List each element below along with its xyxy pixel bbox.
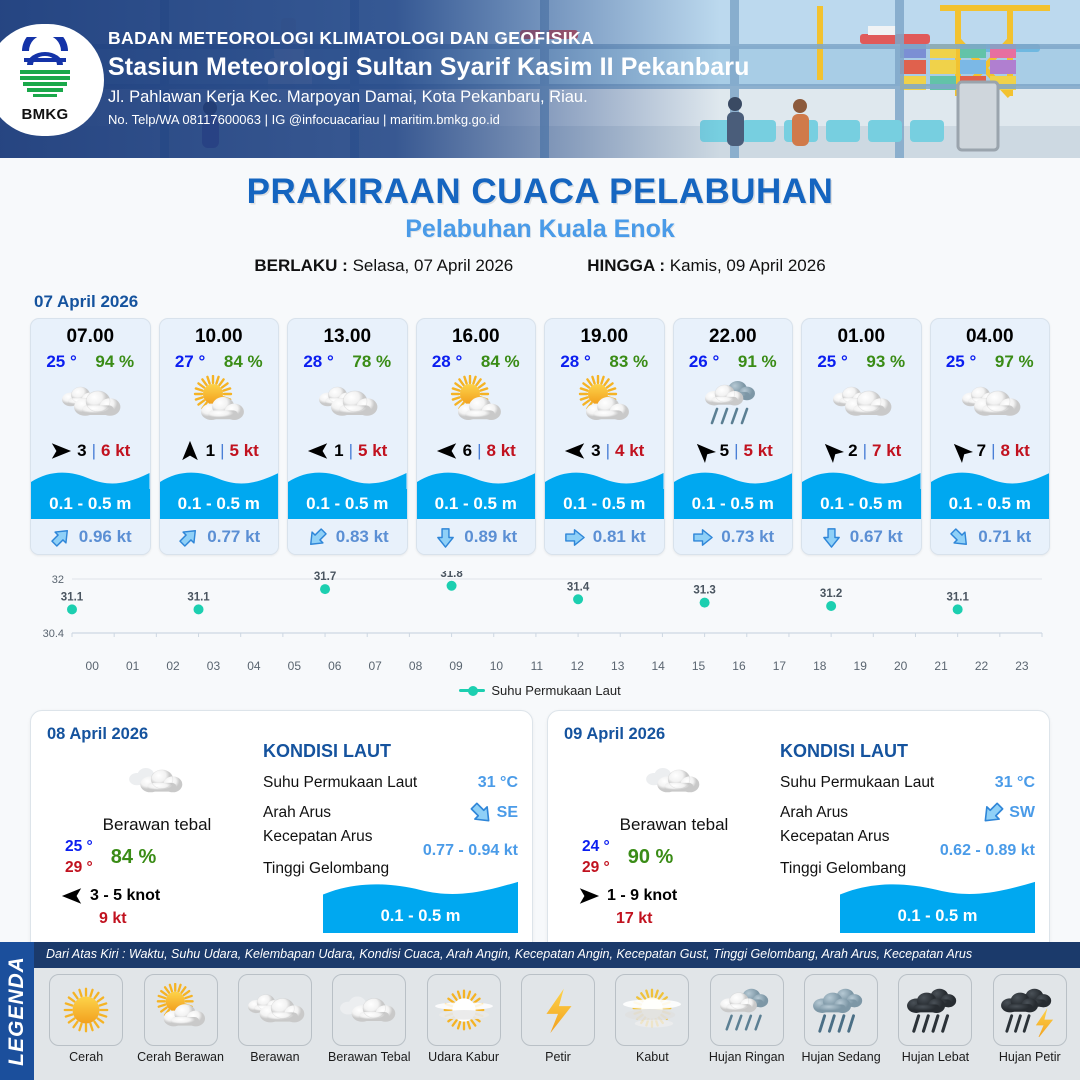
card-temp-humidity: 27 ° 84 % [160,348,279,372]
forecast-card: 04.00 25 ° 97 % 7 [930,318,1051,555]
card-humidity: 97 % [995,352,1034,372]
svg-text:31.7: 31.7 [314,571,336,583]
hingga-label: HINGGA : [587,256,665,275]
forecast-card: 01.00 25 ° 93 % 2 [801,318,922,555]
panel-current-dir-row: Arah Arus SE [263,798,518,828]
card-wave-block: 0.1 - 0.5 m [160,468,279,520]
wave-shape-icon [31,468,150,490]
card-wind-row: 3 | 4 kt [545,434,664,468]
card-temp-humidity: 28 ° 78 % [288,348,407,372]
svg-text:31.4: 31.4 [567,581,590,593]
current-direction-NE-arrow-icon [177,526,200,549]
wind-direction-NW-arrow-icon [821,440,843,462]
chart-x-tick: 06 [315,659,355,673]
card-humidity: 94 % [95,352,134,372]
chart-x-tick: 16 [719,659,759,673]
legend-item: Cerah [42,974,130,1080]
card-current-row: 0.77 kt [160,520,279,554]
panel-current-SW-arrow-icon [980,800,1006,826]
card-gust: 4 kt [615,441,644,461]
chart-x-tick: 04 [234,659,274,673]
port-name: Pelabuhan Kuala Enok [0,215,1080,244]
panel-current-dir-label: Arah Arus [263,804,331,822]
card-temperature: 25 ° [946,352,976,372]
legend-side-label: LEGENDA [0,942,34,1080]
card-humidity: 84 % [481,352,520,372]
card-wind-row: 2 | 7 kt [802,434,921,468]
card-weather-cerah-berawan-icon [160,372,279,434]
card-humidity: 91 % [738,352,777,372]
card-wind-speed: 3 [77,441,86,461]
panel-current-dir-row: Arah Arus SW [780,798,1035,828]
forecast-cards-row: 07.00 25 ° 94 % 3 [0,318,1080,555]
panel-kondisi-title: KONDISI LAUT [263,741,518,762]
card-gust: 8 kt [487,441,516,461]
legend-item: Udara Kabur [419,974,507,1080]
panel-humidity: 84 % [111,846,157,869]
panel-sst-value: 31 °C [995,774,1035,792]
card-temp-humidity: 25 ° 97 % [931,348,1050,372]
legend-item: Berawan Tebal [325,974,413,1080]
card-wave-block: 0.1 - 0.5 m [802,468,921,520]
chart-x-tick: 09 [436,659,476,673]
current-direction-SE-arrow-icon [948,526,971,549]
card-gust: 5 kt [358,441,387,461]
chart-x-tick: 15 [678,659,718,673]
card-humidity: 84 % [224,352,263,372]
bmkg-logo-text: BMKG [8,106,82,123]
card-wave-height: 0.1 - 0.5 m [545,489,664,519]
card-wave-block: 0.1 - 0.5 m [31,468,150,520]
wave-shape-icon [417,468,536,490]
card-wave-height: 0.1 - 0.5 m [417,489,536,519]
svg-text:31.8: 31.8 [440,571,463,580]
card-wind-speed: 7 [977,441,986,461]
legend-item-label: Hujan Petir [999,1050,1061,1064]
card-gust: 5 kt [230,441,259,461]
card-gust: 6 kt [101,441,130,461]
wave-shape-icon [545,468,664,490]
legend-bar: LEGENDA Dari Atas Kiri : Waktu, Suhu Uda… [0,942,1080,1080]
panel-wave-height: 0.1 - 0.5 m [323,899,518,933]
panel-left: Berawan tebal 24 ° 29 ° 90 % 1 - 9 knot … [574,753,774,928]
chart-x-tick: 21 [921,659,961,673]
berlaku-label: BERLAKU : [254,256,348,275]
chart-x-tick: 17 [759,659,799,673]
card-current-speed: 0.83 kt [336,527,389,547]
wind-direction-W-arrow-icon [307,440,329,462]
legend-item-label: Kabut [636,1050,669,1064]
panel-wave-graphic: 0.1 - 0.5 m [323,880,518,933]
card-weather-berawan-icon [288,372,407,434]
card-temperature: 27 ° [175,352,205,372]
card-current-row: 0.96 kt [31,520,150,554]
daily-panels-row: 08 April 2026 Berawan tebal 2 [0,710,1080,958]
page-header: BMKG BADAN METEOROLOGI KLIMATOLOGI DAN G… [0,0,1080,158]
panel-sst-label: Suhu Permukaan Laut [780,774,934,792]
card-temperature: 25 ° [46,352,76,372]
card-time: 04.00 [931,319,1050,348]
hingga-value: Kamis, 09 April 2026 [670,256,826,275]
svg-text:31.2: 31.2 [820,588,842,600]
bmkg-logo-icon [8,37,82,107]
forecast-card: 13.00 28 ° 78 % 1 [287,318,408,555]
card-temperature: 26 ° [689,352,719,372]
card-time: 10.00 [160,319,279,348]
card-temperature: 25 ° [817,352,847,372]
berlaku-value: Selasa, 07 April 2026 [353,256,514,275]
card-wave-height: 0.1 - 0.5 m [288,489,407,519]
card-wave-block: 0.1 - 0.5 m [288,468,407,520]
current-direction-S-arrow-icon [820,526,843,549]
chart-x-tick: 12 [557,659,597,673]
legend-item: Petir [514,974,602,1080]
card-wind-row: 7 | 8 kt [931,434,1050,468]
forecast-card: 07.00 25 ° 94 % 3 [30,318,151,555]
sst-chart: 3230.431.131.131.731.831.431.331.231.1 [30,571,1050,657]
card-time: 16.00 [417,319,536,348]
chart-x-tick: 00 [72,659,112,673]
svg-text:30.4: 30.4 [43,628,64,640]
card-weather-cerah-berawan-icon [545,372,664,434]
card-time: 22.00 [674,319,793,348]
legend-side-text: LEGENDA [5,956,29,1066]
wind-direction-NW-arrow-icon [693,440,715,462]
card-temperature: 28 ° [303,352,333,372]
legend-petir-icon [521,974,595,1046]
chart-x-tick: 19 [840,659,880,673]
agency-name: BADAN METEOROLOGI KLIMATOLOGI DAN GEOFIS… [108,28,749,49]
legend-cerah-icon [49,974,123,1046]
card-current-speed: 0.71 kt [978,527,1031,547]
panel-sst-row: Suhu Permukaan Laut 31 °C [263,768,518,798]
panel-wave-height: 0.1 - 0.5 m [840,899,1035,933]
card-wave-height: 0.1 - 0.5 m [31,489,150,519]
card-wind-row: 3 | 6 kt [31,434,150,468]
panel-condition: Berawan tebal [57,815,257,835]
chart-x-tick: 10 [476,659,516,673]
card-current-speed: 0.96 kt [79,527,132,547]
panel-wave-graphic: 0.1 - 0.5 m [840,880,1035,933]
wind-direction-N-arrow-icon [179,440,201,462]
card-wave-block: 0.1 - 0.5 m [931,468,1050,520]
legend-udara-kabur-icon [427,974,501,1046]
panel-weather-berawan-tebal-icon [574,753,774,809]
legend-berawan-icon [238,974,312,1046]
station-address: Jl. Pahlawan Kerja Kec. Marpoyan Damai, … [108,88,749,107]
panel-temps-row: 25 ° 29 ° 84 % [57,837,257,879]
current-direction-S-arrow-icon [434,526,457,549]
forecast-date-label: 07 April 2026 [34,292,1080,312]
chart-x-tick: 11 [517,659,557,673]
panel-condition: Berawan tebal [574,815,774,835]
chart-x-tick: 02 [153,659,193,673]
panel-sst-label: Suhu Permukaan Laut [263,774,417,792]
card-wind-row: 1 | 5 kt [288,434,407,468]
card-separator: | [349,441,353,461]
card-temperature: 28 ° [432,352,462,372]
legend-item: Berawan [231,974,319,1080]
panel-wind-direction-W-arrow-icon [61,885,83,907]
card-separator: | [606,441,610,461]
card-weather-cerah-berawan-icon [417,372,536,434]
card-temp-humidity: 28 ° 83 % [545,348,664,372]
card-weather-berawan-icon [802,372,921,434]
card-temp-humidity: 28 ° 84 % [417,348,536,372]
card-current-row: 0.81 kt [545,520,664,554]
svg-text:31.1: 31.1 [187,591,210,603]
card-separator: | [863,441,867,461]
legend-item: Hujan Petir [986,974,1074,1080]
panel-current-speed-row: Kecepatan Arus 0.77 - 0.94 kt [263,828,518,860]
panel-humidity: 90 % [628,846,674,869]
panel-left: Berawan tebal 25 ° 29 ° 84 % 3 - 5 knot … [57,753,257,928]
card-current-speed: 0.89 kt [464,527,517,547]
card-wave-block: 0.1 - 0.5 m [417,468,536,520]
panel-sea-conditions: KONDISI LAUT Suhu Permukaan Laut 31 °C A… [780,741,1035,933]
panel-temp-max: 29 ° [582,858,610,879]
card-wave-block: 0.1 - 0.5 m [545,468,664,520]
card-humidity: 93 % [866,352,905,372]
current-direction-E-arrow-icon [691,526,714,549]
svg-text:32: 32 [52,574,64,586]
legend-berawan-tebal-icon [332,974,406,1046]
legend-item-label: Cerah [69,1050,103,1064]
chart-x-tick: 23 [1002,659,1042,673]
card-wind-row: 6 | 8 kt [417,434,536,468]
panel-current-dir-label: Arah Arus [780,804,848,822]
card-wind-speed: 1 [206,441,215,461]
legend-item-label: Berawan [250,1050,299,1064]
card-gust: 5 kt [744,441,773,461]
legend-item: Hujan Sedang [797,974,885,1080]
legend-item-label: Cerah Berawan [137,1050,224,1064]
card-wave-block: 0.1 - 0.5 m [674,468,793,520]
card-wave-height: 0.1 - 0.5 m [802,489,921,519]
page-title: PRAKIRAAN CUACA PELABUHAN [0,172,1080,212]
chart-x-tick: 20 [880,659,920,673]
wave-shape-icon [674,468,793,490]
card-wave-height: 0.1 - 0.5 m [931,489,1050,519]
wave-shape-icon [802,468,921,490]
chart-x-axis: 0001020304050607080910111213141516171819… [30,659,1050,673]
wind-direction-W-arrow-icon [436,440,458,462]
chart-x-tick: 07 [355,659,395,673]
legend-item-label: Petir [545,1050,571,1064]
chart-x-tick: 13 [597,659,637,673]
panel-sst-value: 31 °C [478,774,518,792]
card-current-speed: 0.67 kt [850,527,903,547]
forecast-card: 19.00 28 ° 83 % 3 | 4 kt [544,318,665,555]
card-temp-humidity: 25 ° 94 % [31,348,150,372]
chart-x-tick: 05 [274,659,314,673]
card-weather-hujan-ringan-icon [674,372,793,434]
header-text-block: BADAN METEOROLOGI KLIMATOLOGI DAN GEOFIS… [108,28,749,127]
chart-x-tick: 22 [961,659,1001,673]
card-separator: | [92,441,96,461]
chart-legend: Suhu Permukaan Laut [0,683,1080,698]
panel-wave-row: Tinggi Gelombang 0.1 - 0.5 m [780,860,1035,933]
card-temp-humidity: 25 ° 93 % [802,348,921,372]
svg-text:31.3: 31.3 [693,585,715,597]
panel-wave-label: Tinggi Gelombang [263,860,518,878]
card-time: 07.00 [31,319,150,348]
panel-wind-direction-E-arrow-icon [578,885,600,907]
panel-sst-row: Suhu Permukaan Laut 31 °C [780,768,1035,798]
card-current-row: 0.71 kt [931,520,1050,554]
panel-wind-range: 1 - 9 knot [607,887,677,905]
panel-wind-range: 3 - 5 knot [90,887,160,905]
card-wind-speed: 1 [334,441,343,461]
legend-item-label: Hujan Lebat [902,1050,969,1064]
forecast-card: 16.00 28 ° 84 % 6 | 8 kt [416,318,537,555]
legend-kabut-icon [615,974,689,1046]
panel-temps: 25 ° 29 ° [65,837,93,879]
legend-item: Kabut [608,974,696,1080]
card-current-speed: 0.73 kt [721,527,774,547]
card-wind-speed: 3 [591,441,600,461]
card-current-speed: 0.81 kt [593,527,646,547]
panel-gust: 9 kt [57,910,257,928]
card-current-row: 0.73 kt [674,520,793,554]
legend-icons-row: Cerah Cerah Berawan [34,968,1080,1080]
panel-gust: 17 kt [574,910,774,928]
panel-sea-conditions: KONDISI LAUT Suhu Permukaan Laut 31 °C A… [263,741,518,933]
card-time: 19.00 [545,319,664,348]
card-current-speed: 0.77 kt [207,527,260,547]
title-block: PRAKIRAAN CUACA PELABUHAN Pelabuhan Kual… [0,172,1080,276]
legend-item: Hujan Lebat [891,974,979,1080]
card-gust: 8 kt [1001,441,1030,461]
legend-cerah-berawan-icon [144,974,218,1046]
card-wind-row: 1 | 5 kt [160,434,279,468]
legend-hujan-ringan-icon [710,974,784,1046]
card-temperature: 28 ° [560,352,590,372]
station-contact: No. Telp/WA 08117600063 | IG @infocuacar… [108,112,749,127]
panel-kondisi-title: KONDISI LAUT [780,741,1035,762]
legend-body: Dari Atas Kiri : Waktu, Suhu Udara, Kele… [34,942,1080,1080]
card-separator: | [991,441,995,461]
legend-item-label: Berawan Tebal [328,1050,410,1064]
card-weather-berawan-icon [931,372,1050,434]
legend-item: Cerah Berawan [136,974,224,1080]
wave-shape-icon [288,468,407,490]
card-wind-speed: 2 [848,441,857,461]
legend-item-label: Hujan Sedang [801,1050,880,1064]
sst-legend-label: Suhu Permukaan Laut [491,683,620,698]
card-gust: 7 kt [872,441,901,461]
wave-shape-icon [931,468,1050,490]
panel-current-speed-row: Kecepatan Arus 0.62 - 0.89 kt [780,828,1035,860]
svg-text:31.1: 31.1 [61,591,84,603]
legend-item-label: Udara Kabur [428,1050,499,1064]
panel-temp-max: 29 ° [65,858,93,879]
panel-temp-min: 25 ° [65,837,93,858]
wave-shape-icon [160,468,279,490]
panel-wave-shape-icon [840,880,1035,900]
legend-item-label: Hujan Ringan [709,1050,785,1064]
card-time: 01.00 [802,319,921,348]
panel-temp-min: 24 ° [582,837,610,858]
chart-x-tick: 18 [800,659,840,673]
current-direction-NE-arrow-icon [49,526,72,549]
validity-row: BERLAKU : Selasa, 07 April 2026 HINGGA :… [0,256,1080,276]
card-separator: | [734,441,738,461]
card-wind-row: 5 | 5 kt [674,434,793,468]
card-current-row: 0.89 kt [417,520,536,554]
panel-temps: 24 ° 29 ° [582,837,610,879]
legend-hujan-sedang-icon [804,974,878,1046]
card-time: 13.00 [288,319,407,348]
panel-wind-row: 3 - 5 knot [57,885,257,907]
sst-legend-marker-icon [459,689,485,692]
card-wave-height: 0.1 - 0.5 m [674,489,793,519]
forecast-card: 22.00 26 ° 91 % [673,318,794,555]
legend-hujan-petir-icon [993,974,1067,1046]
current-direction-SW-arrow-icon [306,526,329,549]
legend-note: Dari Atas Kiri : Waktu, Suhu Udara, Kele… [34,942,1080,968]
wind-direction-E-arrow-icon [50,440,72,462]
card-current-row: 0.83 kt [288,520,407,554]
panel-weather-berawan-tebal-icon [57,753,257,809]
panel-wind-row: 1 - 9 knot [574,885,774,907]
card-humidity: 78 % [352,352,391,372]
panel-wave-shape-icon [323,880,518,900]
card-current-row: 0.67 kt [802,520,921,554]
card-weather-berawan-icon [31,372,150,434]
panel-current-dir-value: SE [468,800,518,826]
chart-x-tick: 14 [638,659,678,673]
panel-current-SE-arrow-icon [468,800,494,826]
legend-item: Hujan Ringan [703,974,791,1080]
card-separator: | [220,441,224,461]
panel-wave-label: Tinggi Gelombang [780,860,1035,878]
legend-hujan-lebat-icon [898,974,972,1046]
berlaku-group: BERLAKU : Selasa, 07 April 2026 [254,256,513,276]
panel-temps-row: 24 ° 29 ° 90 % [574,837,774,879]
panel-current-dir-value: SW [980,800,1035,826]
card-humidity: 83 % [609,352,648,372]
chart-x-tick: 01 [112,659,152,673]
svg-text:31.1: 31.1 [946,591,969,603]
card-separator: | [477,441,481,461]
daily-panel: 08 April 2026 Berawan tebal 2 [30,710,533,958]
card-wind-speed: 5 [720,441,729,461]
station-name: Stasiun Meteorologi Sultan Syarif Kasim … [108,53,749,82]
current-direction-E-arrow-icon [563,526,586,549]
card-temp-humidity: 26 ° 91 % [674,348,793,372]
chart-x-tick: 03 [193,659,233,673]
card-wave-height: 0.1 - 0.5 m [160,489,279,519]
daily-panel: 09 April 2026 Berawan tebal 2 [547,710,1050,958]
forecast-card: 10.00 27 ° 84 % 1 | 5 kt [159,318,280,555]
wind-direction-W-arrow-icon [564,440,586,462]
card-wind-speed: 6 [463,441,472,461]
hingga-group: HINGGA : Kamis, 09 April 2026 [587,256,825,276]
chart-x-tick: 08 [395,659,435,673]
panel-wave-row: Tinggi Gelombang 0.1 - 0.5 m [263,860,518,933]
wind-direction-NW-arrow-icon [950,440,972,462]
